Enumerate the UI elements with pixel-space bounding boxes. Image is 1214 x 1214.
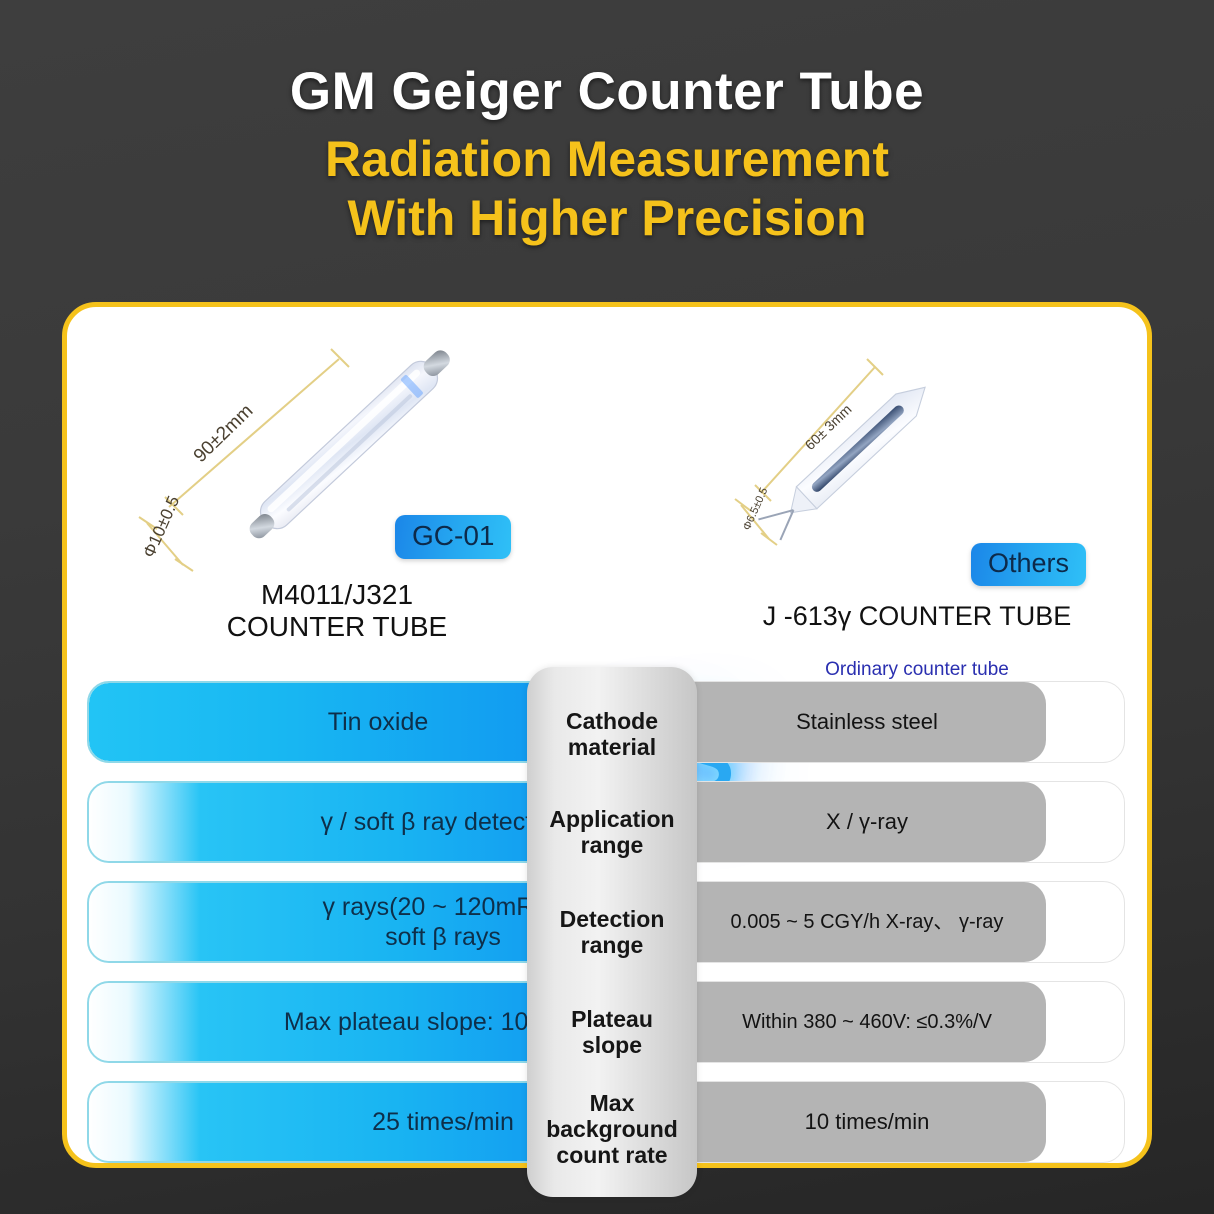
badge-gc01: GC-01 — [395, 515, 511, 559]
comparison-card: 90±2mm Φ10±0.5 GC-01 M4011/J321 COUNTER … — [62, 302, 1152, 1168]
param-line: Plateau — [527, 1007, 697, 1033]
badge-others: Others — [971, 543, 1086, 586]
param-line: Application — [527, 807, 697, 833]
param-line: background — [527, 1117, 697, 1143]
param-line: count rate — [527, 1143, 697, 1169]
table-row-right-max-background-count-rate: 10 times/min — [665, 1081, 1125, 1163]
product-left-name-line2: COUNTER TUBE — [107, 611, 567, 643]
product-showcase: 90±2mm Φ10±0.5 GC-01 M4011/J321 COUNTER … — [67, 307, 1147, 655]
row-right-value: Within 380 ~ 460V: ≤0.3%/V — [666, 1010, 1068, 1034]
table-row-right-plateau-slope: Within 380 ~ 460V: ≤0.3%/V — [665, 981, 1125, 1063]
param-line: Cathode — [527, 709, 697, 735]
page-title: GM Geiger Counter Tube — [0, 64, 1214, 120]
param-label-cathode-material: Cathode material — [527, 709, 697, 761]
param-label-plateau-slope: Plateau slope — [527, 1007, 697, 1059]
table-row-right-detection-range: 0.005 ~ 5 CGY/h X-ray、 γ-ray — [665, 881, 1125, 963]
comparison-table: Cathode material Application range Detec… — [67, 659, 1147, 1173]
dimension-guides-left — [107, 307, 567, 607]
product-left: 90±2mm Φ10±0.5 GC-01 M4011/J321 COUNTER … — [107, 307, 567, 655]
param-line: material — [527, 735, 697, 761]
row-right-value: Stainless steel — [666, 709, 1068, 735]
row-right-value: 0.005 ~ 5 CGY/h X-ray、 γ-ray — [666, 910, 1068, 934]
table-row-right-application-range: X / γ-ray — [665, 781, 1125, 863]
param-label-application-range: Application range — [527, 807, 697, 859]
param-line: Max — [527, 1091, 697, 1117]
param-line: range — [527, 933, 697, 959]
param-line: range — [527, 833, 697, 859]
table-row-right-cathode-material: Stainless steel — [665, 681, 1125, 763]
param-line: slope — [527, 1033, 697, 1059]
parameter-column: Cathode material Application range Detec… — [527, 667, 697, 1197]
row-right-value: 10 times/min — [666, 1109, 1068, 1135]
product-left-name-line1: M4011/J321 — [107, 579, 567, 611]
row-right-value: X / γ-ray — [666, 809, 1068, 835]
subtitle-line-1: Radiation Measurement — [0, 130, 1214, 189]
param-label-detection-range: Detection range — [527, 907, 697, 959]
param-line: Detection — [527, 907, 697, 933]
product-right-name: J -613γ COUNTER TUBE — [707, 601, 1127, 632]
product-right: 60± 3mm Φ6.5±0.5 Others J -613γ COUNTER … — [707, 343, 1127, 655]
product-left-name: M4011/J321 COUNTER TUBE — [107, 579, 567, 642]
subtitle-line-2: With Higher Precision — [0, 189, 1214, 248]
param-label-max-background-count-rate: Max background count rate — [527, 1091, 697, 1168]
page-subtitle: Radiation Measurement With Higher Precis… — [0, 130, 1214, 248]
page-header: GM Geiger Counter Tube Radiation Measure… — [0, 0, 1214, 248]
